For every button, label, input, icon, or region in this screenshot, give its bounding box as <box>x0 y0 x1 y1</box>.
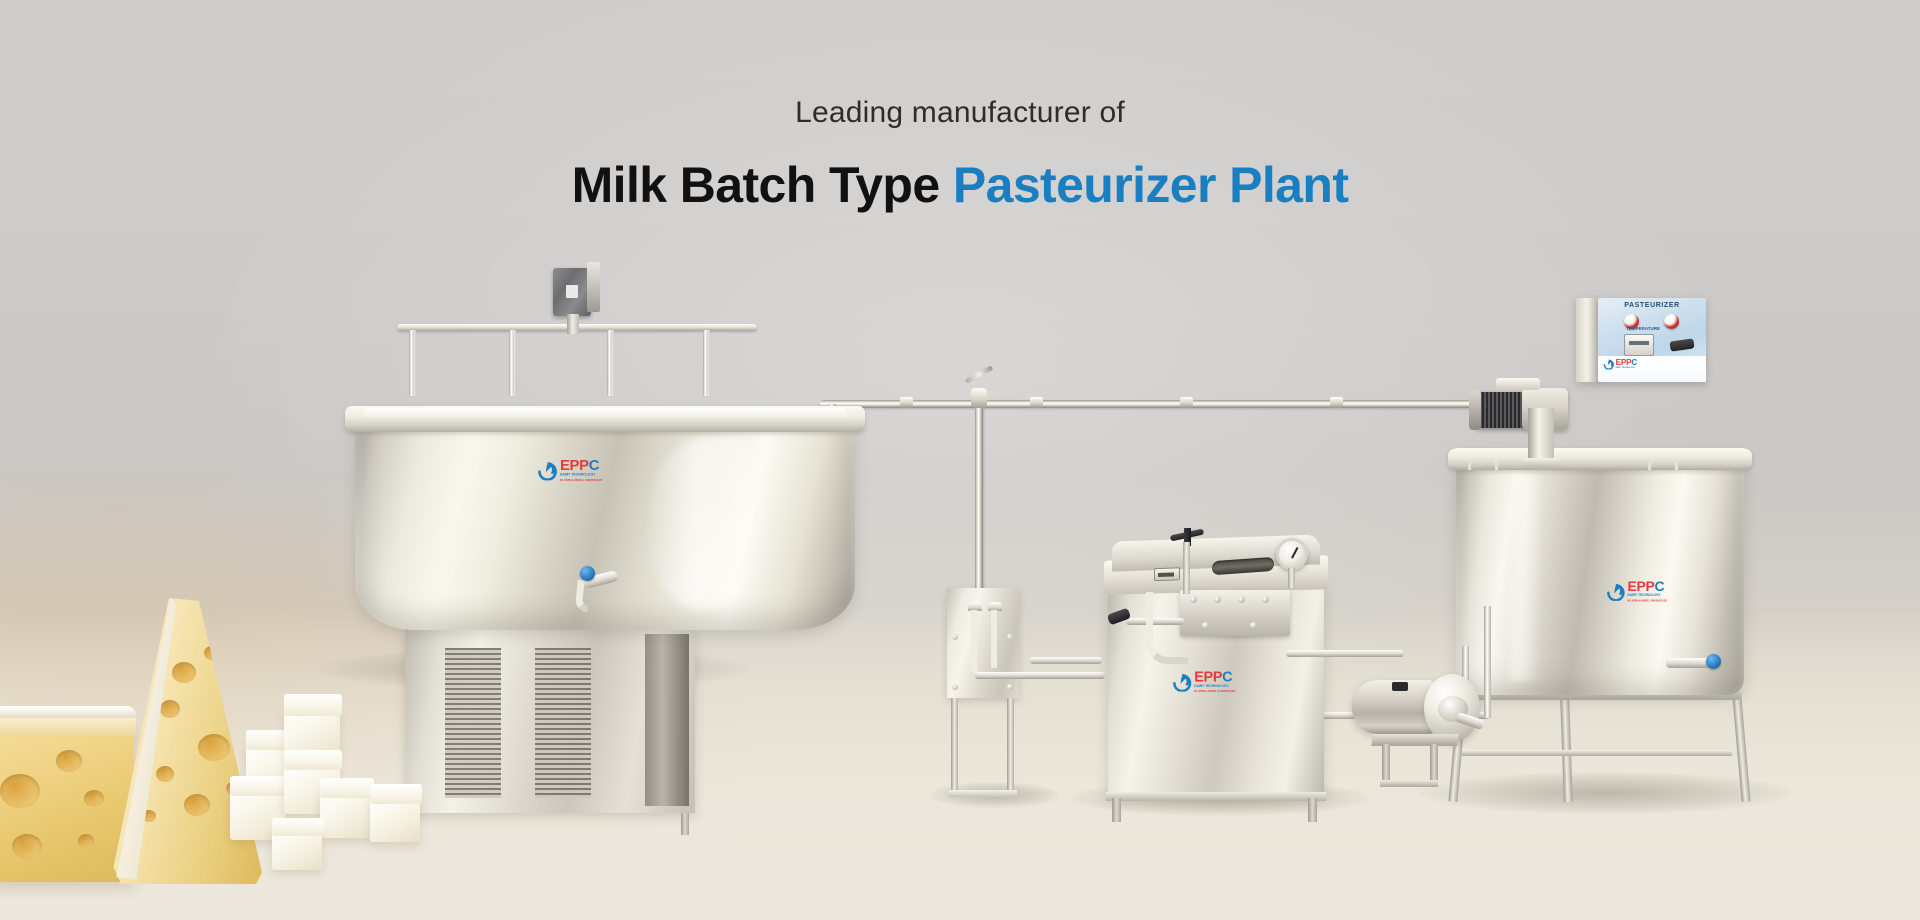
motor-housing <box>1474 392 1526 428</box>
epic-logo-right-tank: E P P C DAIRY TECHNOLOGY M. 95504-45681 … <box>1606 580 1667 602</box>
pipe-collar <box>1180 397 1193 408</box>
epic-letter-i: P <box>1213 670 1222 684</box>
homogenizer-pressure-handwheel <box>1170 528 1204 542</box>
homogenizer-elbow-pipe <box>1146 592 1188 664</box>
tank-leg <box>1560 692 1573 802</box>
epic-tagline: DAIRY TECHNOLOGY <box>1627 595 1667 598</box>
epic-letter-p: P <box>1636 580 1645 594</box>
epic-contact: M. 95504-45681 | 9462610120 <box>560 479 602 482</box>
base-leg <box>681 813 689 835</box>
balance-tank-stand <box>935 588 1035 803</box>
plate-bolt <box>952 684 958 690</box>
cheese-hole <box>204 646 220 660</box>
homogenizer-inlet-pipe <box>1030 657 1102 664</box>
overhead-pipe <box>820 400 1510 408</box>
rail-post <box>703 330 708 396</box>
cheese-foreground <box>0 590 454 920</box>
stand-cross-brace <box>1462 750 1732 756</box>
control-panel-side-enclosure <box>1576 298 1600 382</box>
stand-u-pipe <box>971 610 991 678</box>
homogenizer-display <box>1154 567 1180 581</box>
epic-swirl-icon <box>537 459 558 480</box>
stand-leg <box>1007 698 1014 794</box>
pressure-gauge-icon <box>1276 538 1308 570</box>
epic-letter-e: E <box>1627 580 1636 594</box>
headline-accent: Pasteurizer Plant <box>953 157 1349 213</box>
right-tank-lid <box>1448 448 1752 470</box>
stand-outlet-pipe <box>975 672 1105 679</box>
rail-post <box>409 330 414 396</box>
page-title: Milk Batch Type Pasteurizer Plant <box>0 157 1920 215</box>
right-tank-riser-pipe <box>1484 606 1491 718</box>
cheese-block-rind <box>0 706 136 718</box>
homogenizer-valve-block <box>1180 590 1290 636</box>
plate-bolt <box>1007 684 1013 690</box>
epic-wordmark: E P P C <box>1627 580 1667 594</box>
epic-tagline: DAIRY TECHNOLOGY <box>1616 367 1638 369</box>
agitator-motor-side <box>587 262 600 312</box>
paneer-cube-top <box>230 776 288 796</box>
epic-contact: M. 95504-45681 | 9462610120 <box>1627 599 1667 602</box>
valve-spout <box>574 579 590 612</box>
agitator-motor-housing <box>553 268 591 316</box>
epic-swirl-icon <box>1172 671 1192 691</box>
lid-handle <box>1468 458 1498 470</box>
epic-logo-homogenizer: E P P C DAIRY TECHNOLOGY M. 95504-45681 … <box>1172 670 1235 693</box>
block-bolt <box>1214 596 1221 603</box>
paneer-cube-top <box>284 750 342 770</box>
paneer-cube-top <box>272 818 324 836</box>
homogenizer-base-rail <box>1106 792 1326 801</box>
pump-foot <box>1380 780 1438 787</box>
agitator-shaft <box>567 314 579 334</box>
paneer-cube-top <box>284 694 342 716</box>
rail-post <box>607 330 612 396</box>
epic-letter-c: C <box>589 458 599 473</box>
pipe-riser-center <box>975 406 983 596</box>
epic-letter-e: E <box>560 458 570 473</box>
homogenizer: E P P C DAIRY TECHNOLOGY M. 95504-45681 … <box>1090 520 1340 810</box>
block-bolt <box>1202 622 1209 629</box>
left-tank-lid <box>345 406 865 432</box>
headline-group: Leading manufacturer of Milk Batch Type … <box>0 96 1920 215</box>
headline-primary: Milk Batch Type <box>572 157 940 213</box>
epic-contact: M. 95504-45681 | 9462610120 <box>1194 690 1235 693</box>
homogenizer-leg <box>1112 798 1121 822</box>
cheese-hole <box>156 766 174 782</box>
tee-valve-hub <box>971 388 987 408</box>
epic-logo-control-panel: E P P C DAIRY TECHNOLOGY <box>1603 358 1637 370</box>
control-panel-title: PASTEURIZER <box>1598 302 1706 309</box>
pipe-collar <box>1030 397 1043 408</box>
epic-letter-p: P <box>570 458 580 473</box>
valve-handle-blue <box>580 566 595 581</box>
cheese-hole <box>160 700 180 718</box>
tank-leg <box>1732 692 1751 802</box>
epic-text-block: E P P C DAIRY TECHNOLOGY M. 95504-45681 … <box>1627 580 1667 602</box>
epic-letter-c: C <box>1222 670 1232 684</box>
agitator-shaft-housing <box>1528 408 1554 464</box>
rail-post <box>509 330 514 396</box>
eyebrow-text: Leading manufacturer of <box>0 96 1920 129</box>
stand-foot <box>949 790 1017 797</box>
agitator-shaft-base <box>1522 458 1560 468</box>
pump-leg <box>1382 744 1390 784</box>
paneer-cube-top <box>320 778 374 798</box>
base-louver <box>535 648 591 798</box>
control-panel[interactable]: PASTEURIZER TEMPERATURE E <box>1598 298 1706 382</box>
display-label: TEMPERATURE <box>1618 326 1668 331</box>
epic-tagline: DAIRY TECHNOLOGY <box>560 474 602 477</box>
homogenizer-leg <box>1308 798 1317 822</box>
right-tank-stand <box>1450 692 1750 812</box>
base-vent-strip <box>645 634 689 806</box>
pipe-collar <box>900 397 913 408</box>
pump-motor-cap <box>1392 682 1408 691</box>
cheese-hole <box>184 794 210 816</box>
epic-letter-p: P <box>1204 670 1213 684</box>
block-bolt <box>1190 596 1197 603</box>
homogenizer-valve-stem <box>1183 542 1190 594</box>
epic-swirl-icon <box>1603 358 1615 370</box>
epic-letter-i: P <box>1645 580 1654 594</box>
pipe-collar <box>1330 397 1343 408</box>
stand-pipe <box>991 610 1009 668</box>
tee-valve-handle <box>965 365 994 383</box>
lid-handle <box>1648 458 1678 470</box>
plate-bolt <box>952 634 958 640</box>
pump-leg <box>1430 744 1438 784</box>
hero-banner: Leading manufacturer of Milk Batch Type … <box>0 0 1920 920</box>
stand-mounting-plate <box>947 588 1019 698</box>
block-bolt <box>1262 596 1269 603</box>
left-tank-lid-surface <box>363 408 847 420</box>
temperature-display <box>1624 334 1654 356</box>
centrifugal-pump <box>1352 672 1482 790</box>
homogenizer-outlet-pipe <box>1286 650 1404 657</box>
cheese-hole <box>198 734 230 761</box>
cheese-hole <box>172 662 196 683</box>
block-bolt <box>1250 622 1257 629</box>
gauge-stem <box>1288 568 1295 588</box>
epic-text-block: E P P C DAIRY TECHNOLOGY M. 95504-45681 … <box>560 458 602 482</box>
epic-text-block: E P P C DAIRY TECHNOLOGY M. 95504-45681 … <box>1194 670 1235 693</box>
epic-letter-e: E <box>1194 670 1203 684</box>
cheese-hole <box>0 774 40 808</box>
motor-flange <box>1496 378 1540 390</box>
block-bolt <box>1238 596 1245 603</box>
stand-legs <box>949 698 1017 798</box>
right-tank: PASTEURIZER TEMPERATURE E <box>1440 430 1760 810</box>
epic-letter-i: P <box>579 458 589 473</box>
valve-body <box>1666 658 1710 668</box>
main-switch[interactable] <box>1669 338 1694 351</box>
stand-leg <box>951 698 958 794</box>
cheese-hole <box>56 750 82 772</box>
epic-text-block: E P P C DAIRY TECHNOLOGY <box>1616 359 1638 369</box>
control-panel-logo-band: E P P C DAIRY TECHNOLOGY <box>1598 356 1706 382</box>
cheese-block-swiss <box>0 722 134 882</box>
valve-handle-blue <box>1706 654 1721 669</box>
epic-wordmark: E P P C <box>560 458 602 473</box>
cheese-hole <box>12 834 42 859</box>
cheese-hole <box>78 834 94 848</box>
epic-logo-left-tank: E P P C DAIRY TECHNOLOGY M. 95504-45681 … <box>537 458 602 482</box>
epic-swirl-icon <box>1606 581 1626 601</box>
right-tank-outlet-valve <box>1666 650 1726 676</box>
epic-letter-c: C <box>1654 580 1664 594</box>
pipe-tee-valve <box>962 386 996 408</box>
left-tank-outlet-valve <box>570 566 626 618</box>
agitator-motor <box>553 258 599 324</box>
paneer-cube-top <box>370 784 422 804</box>
epic-tagline: DAIRY TECHNOLOGY <box>1194 685 1235 688</box>
cheese-hole <box>84 790 104 807</box>
epic-wordmark: E P P C <box>1194 670 1235 684</box>
